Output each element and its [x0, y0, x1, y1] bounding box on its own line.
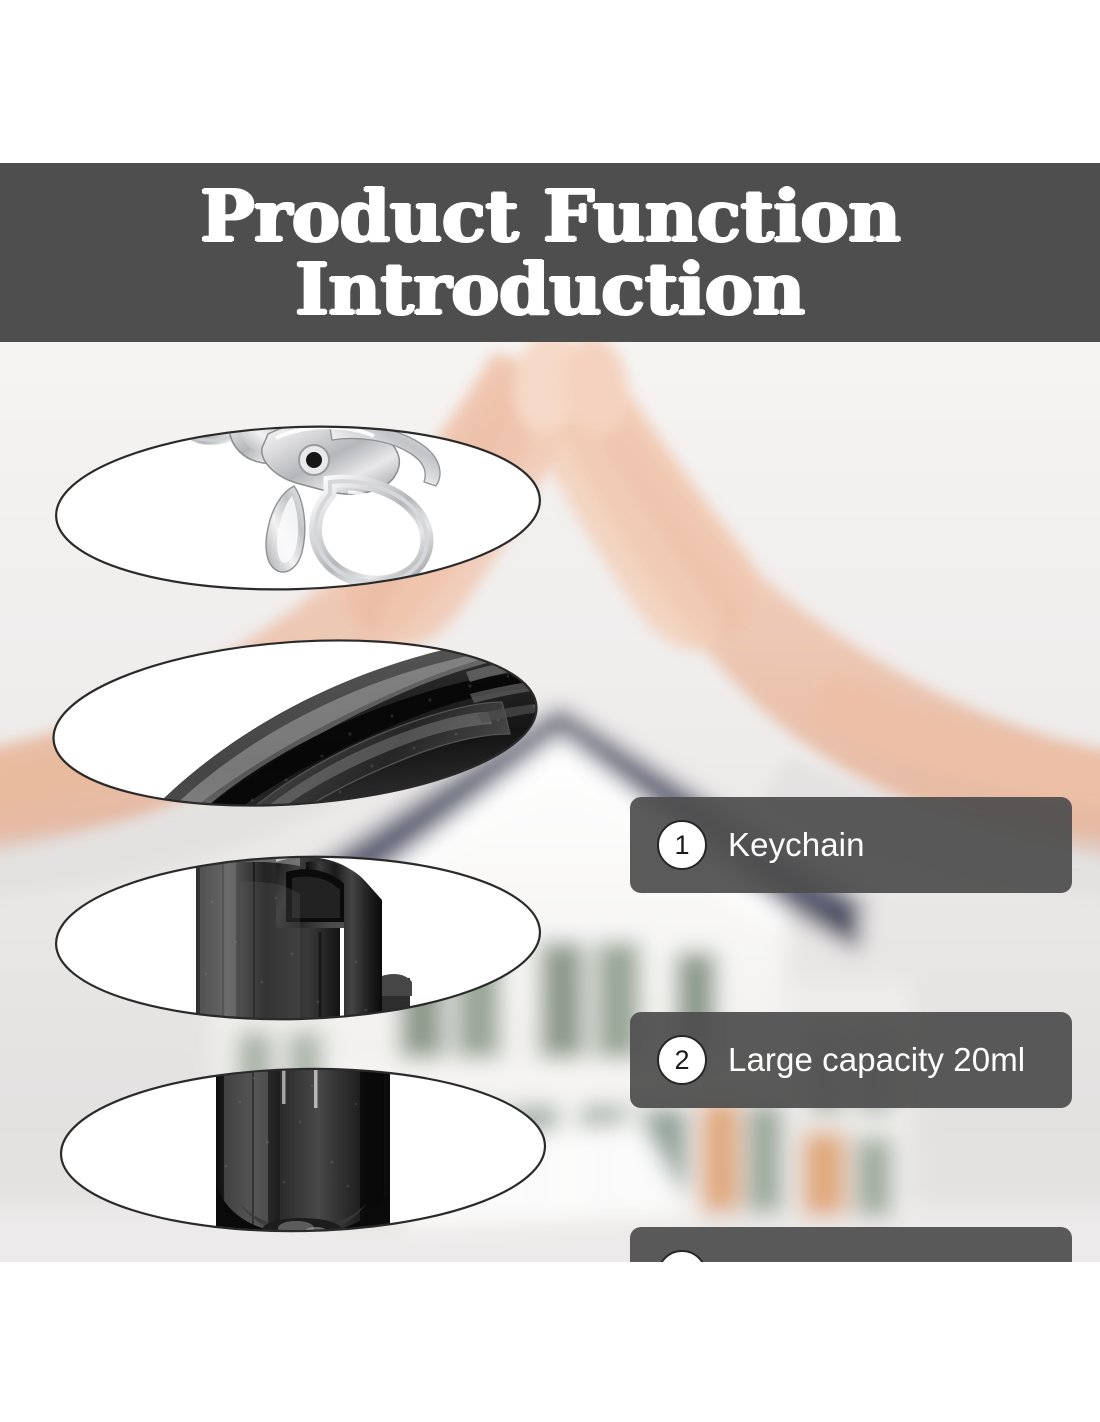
- bottom-white-margin: [0, 1262, 1100, 1422]
- title-banner: Product Function Introduction: [0, 163, 1100, 342]
- top-white-margin: [0, 0, 1100, 163]
- feature-badge-1: 1: [657, 820, 707, 870]
- page-title-line-2: Introduction: [295, 254, 805, 324]
- feature-badge-2: 2: [657, 1035, 707, 1085]
- feature-callout-1[interactable]: 1 Keychain: [630, 797, 1072, 893]
- product-photo-area: 1 Keychain 2 Large capacity 20ml 3 Press…: [0, 342, 1100, 1262]
- feature-label-2: Large capacity 20ml: [728, 1041, 1025, 1079]
- feature-callout-2[interactable]: 2 Large capacity 20ml: [630, 1012, 1072, 1108]
- page-title-line-1: Product Function: [200, 181, 900, 251]
- feature-callout-3[interactable]: 3 Press type nozzle: [630, 1227, 1072, 1262]
- feature-badge-3: 3: [657, 1250, 707, 1262]
- feature-label-1: Keychain: [728, 826, 865, 864]
